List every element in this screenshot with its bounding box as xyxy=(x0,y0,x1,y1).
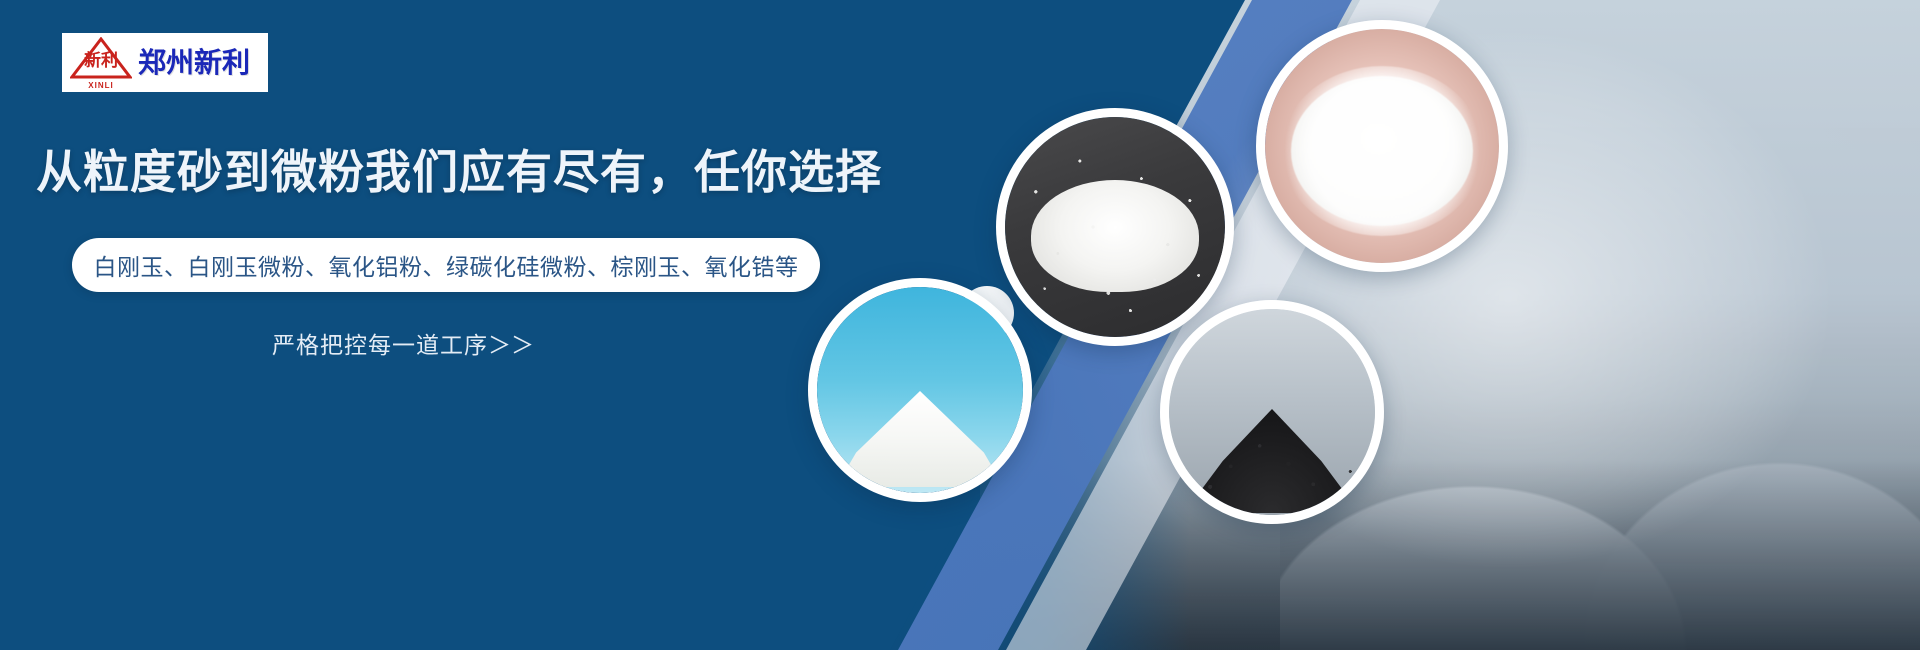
logo-wordmark: 郑州新利 xyxy=(138,49,250,77)
grain-speckles xyxy=(1005,117,1225,337)
product-list-text: 白刚玉、白刚玉微粉、氧化铝粉、绿碳化硅微粉、棕刚玉、氧化锆等 xyxy=(94,248,799,282)
logo-mark-pinyin: XINLI xyxy=(70,81,132,90)
product-circle-white-fused-alumina-grain[interactable] xyxy=(996,108,1234,346)
cta-label: 严格把控每一道工序 xyxy=(272,333,488,359)
powder-cone-shape xyxy=(836,391,1004,487)
promo-banner: 新利 XINLI 郑州新利 从粒度砂到微粉我们应有尽有，任你选择 白刚玉、白刚玉… xyxy=(0,0,1920,650)
logo-mark-text: 新利 xyxy=(72,52,130,70)
green-silicon-carbide-image xyxy=(1169,309,1375,515)
white-fused-alumina-grain-image xyxy=(1005,117,1225,337)
cta-arrows-icon: ＞＞ xyxy=(488,333,534,359)
product-circle-white-alumina-micropowder[interactable] xyxy=(1256,20,1508,272)
white-alumina-micropowder-image xyxy=(1265,29,1499,263)
product-circle-green-silicon-carbide[interactable] xyxy=(1160,300,1384,524)
alumina-powder-cone-image xyxy=(817,287,1023,493)
micropowder-pile-shape xyxy=(1291,76,1473,226)
sic-speckles xyxy=(1169,387,1375,515)
product-list-pill: 白刚玉、白刚玉微粉、氧化铝粉、绿碳化硅微粉、棕刚玉、氧化锆等 xyxy=(72,238,820,292)
logo[interactable]: 新利 XINLI 郑州新利 xyxy=(62,33,268,92)
logo-mark: 新利 XINLI xyxy=(70,36,132,89)
headline: 从粒度砂到微粉我们应有尽有，任你选择 xyxy=(36,146,882,199)
cta-link[interactable]: 严格把控每一道工序＞＞ xyxy=(272,326,534,360)
product-circle-alumina-powder-cone[interactable] xyxy=(808,278,1032,502)
